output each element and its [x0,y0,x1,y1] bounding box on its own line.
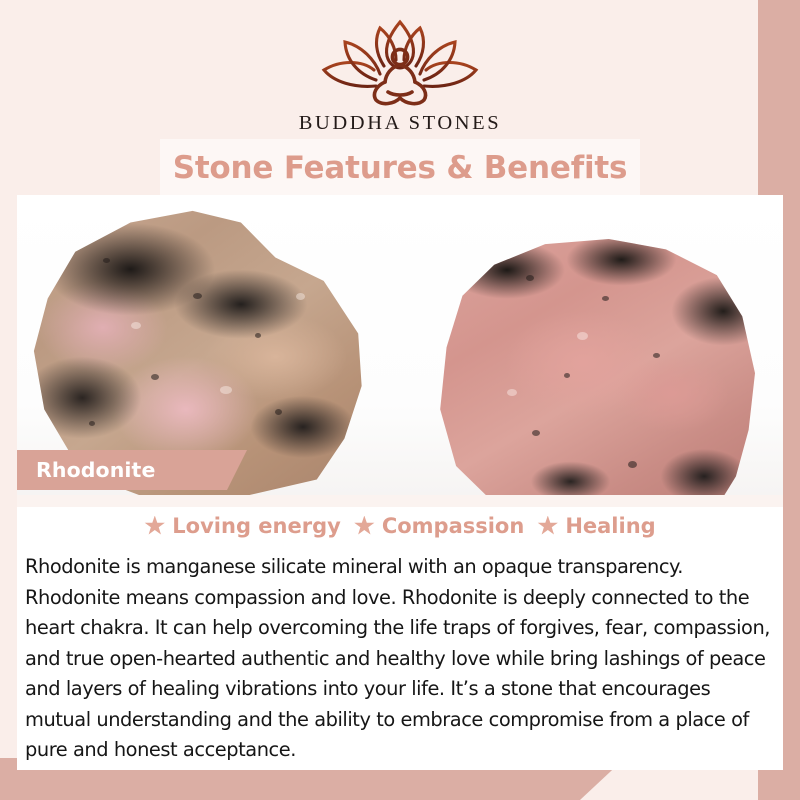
lotus-meditation-icon [314,16,486,108]
page-title: Stone Features & Benefits [173,150,628,186]
brand-name: BUDDHA STONES [299,112,502,135]
benefits-row: Loving energy Compassion Healing [17,514,783,538]
star-icon [354,516,375,537]
description-card: Loving energy Compassion Healing Rhodoni… [17,495,783,770]
benefit-label: Compassion [382,514,525,538]
star-icon [144,516,165,537]
card-top-tint [17,495,783,507]
poster-root: BUDDHA STONES Stone Features & Benefits [0,0,800,800]
poster-content: BUDDHA STONES Stone Features & Benefits [0,0,800,800]
stone-name-tag: Rhodonite [17,450,247,490]
stone-specimen-right [437,239,755,495]
star-icon [537,516,558,537]
benefit-item: Loving energy [144,514,341,538]
title-banner: Stone Features & Benefits [160,139,640,196]
stone-description: Rhodonite is manganese silicate mineral … [25,552,777,766]
benefit-item: Compassion [354,514,525,538]
benefit-item: Healing [537,514,655,538]
brand-logo: BUDDHA STONES [0,16,800,135]
stone-name-label: Rhodonite [36,458,155,482]
benefit-label: Loving energy [172,514,341,538]
benefit-label: Healing [565,514,655,538]
